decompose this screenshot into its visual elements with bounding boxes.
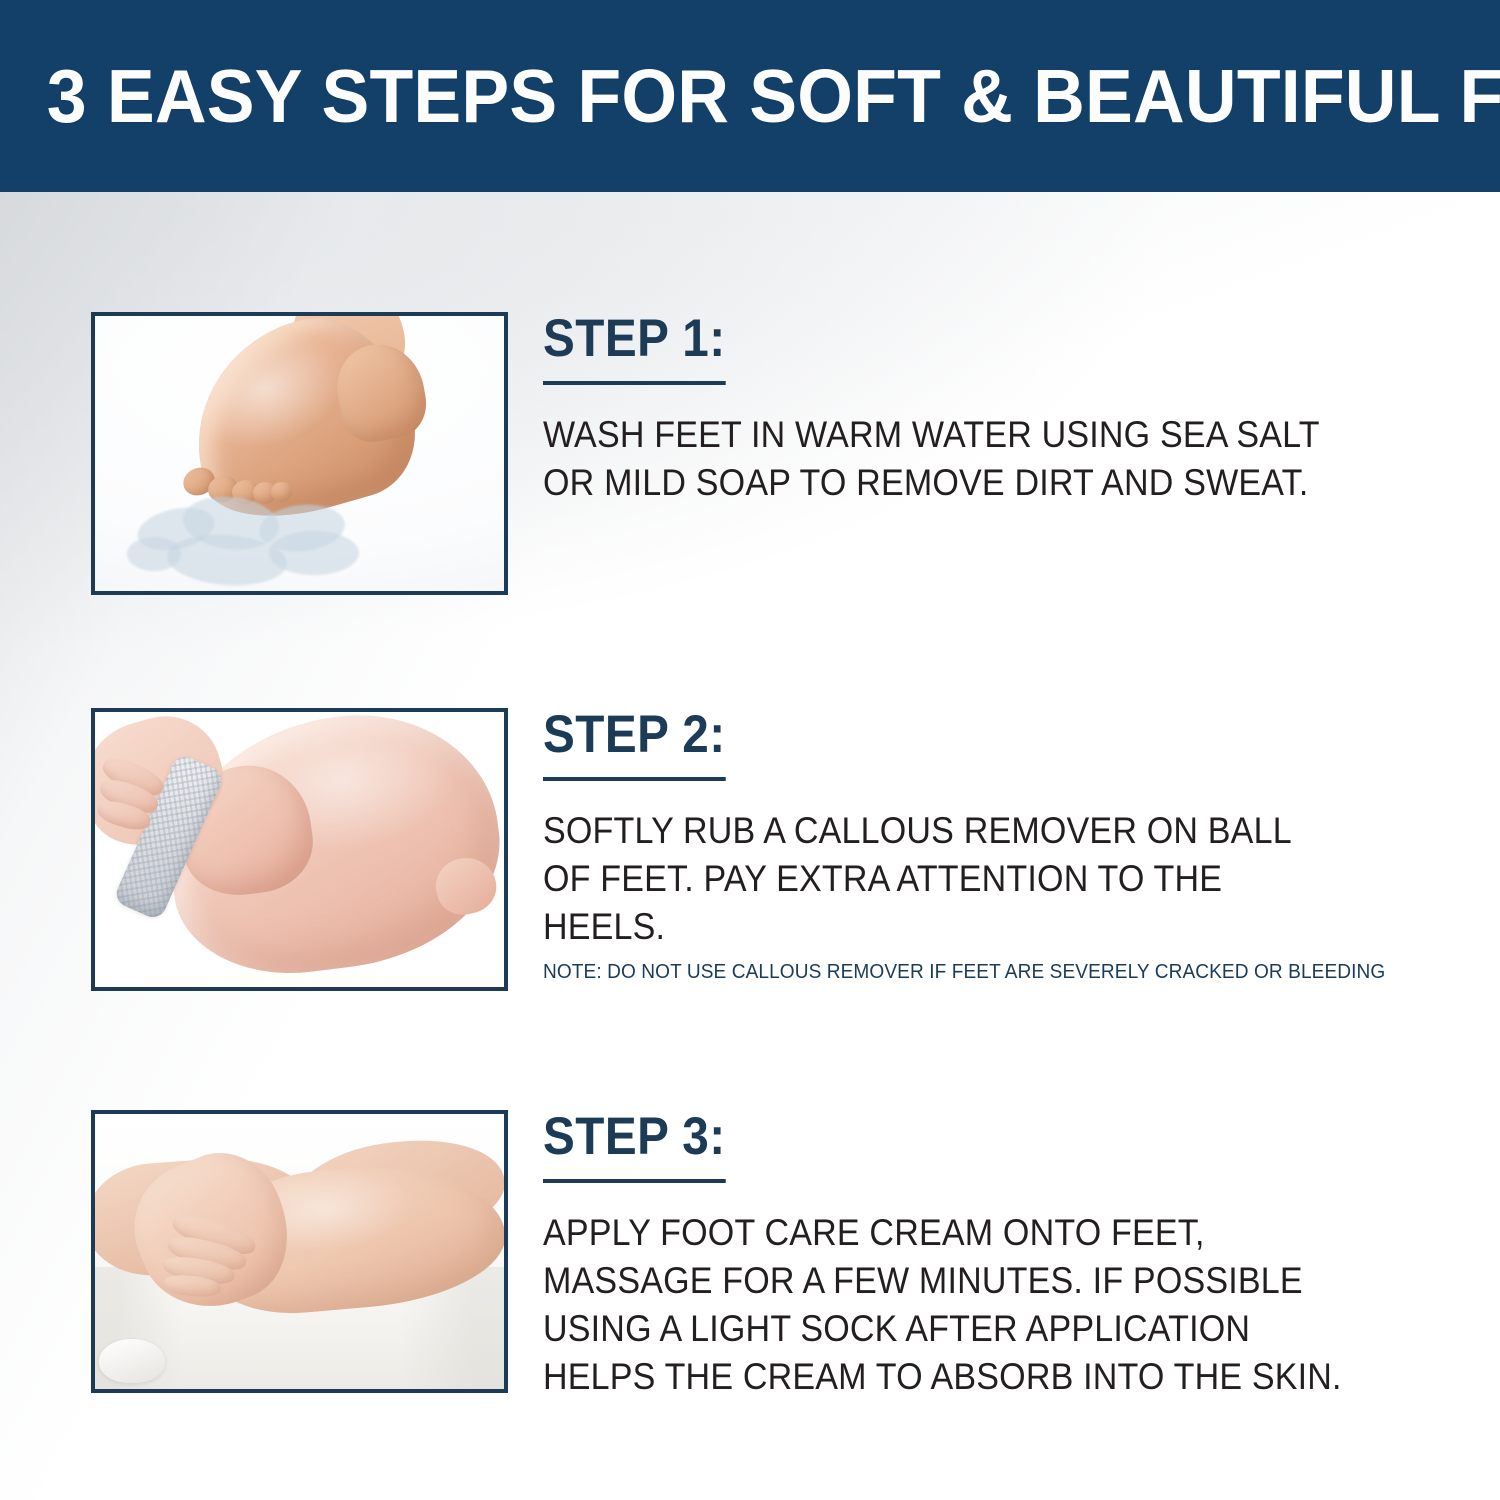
step-2-heading: STEP 2: (543, 708, 726, 781)
fingers-shape (171, 1222, 331, 1302)
hands-massaging-cream-into-foot-on-white-towel-image (95, 1114, 504, 1389)
step-3-text: STEP 3: APPLY FOOT CARE CREAM ONTO FEET,… (543, 1110, 1423, 1401)
step-3-heading: STEP 3: (543, 1110, 726, 1183)
water-splash-shape (119, 491, 419, 591)
step-1-heading: STEP 1: (543, 312, 726, 385)
fingers-shape (99, 764, 229, 854)
step-3-body: APPLY FOOT CARE CREAM ONTO FEET, MASSAGE… (543, 1209, 1353, 1401)
step-1-photo-frame (91, 312, 508, 595)
cream-jar-shape (99, 1339, 165, 1383)
step-3-photo-frame (91, 1110, 508, 1393)
header-banner: 3 EASY STEPS FOR SOFT & BEAUTIFUL FEET (0, 0, 1500, 192)
foot-rinsing-in-splashing-water-image (95, 316, 504, 591)
step-2-photo-frame (91, 708, 508, 991)
page-title: 3 EASY STEPS FOR SOFT & BEAUTIFUL FEET (0, 59, 1500, 134)
step-2-text: STEP 2: SOFTLY RUB A CALLOUS REMOVER ON … (543, 708, 1423, 985)
step-2-note: NOTE: DO NOT USE CALLOUS REMOVER IF FEET… (543, 960, 1361, 985)
step-2-body: SOFTLY RUB A CALLOUS REMOVER ON BALL OF … (543, 807, 1353, 951)
infographic-page: 3 EASY STEPS FOR SOFT & BEAUTIFUL FEET (0, 0, 1500, 1500)
step-1-body: WASH FEET IN WARM WATER USING SEA SALT O… (543, 411, 1353, 507)
hand-using-pumice-callous-remover-on-heel-image (95, 712, 504, 987)
step-1-text: STEP 1: WASH FEET IN WARM WATER USING SE… (543, 312, 1423, 507)
